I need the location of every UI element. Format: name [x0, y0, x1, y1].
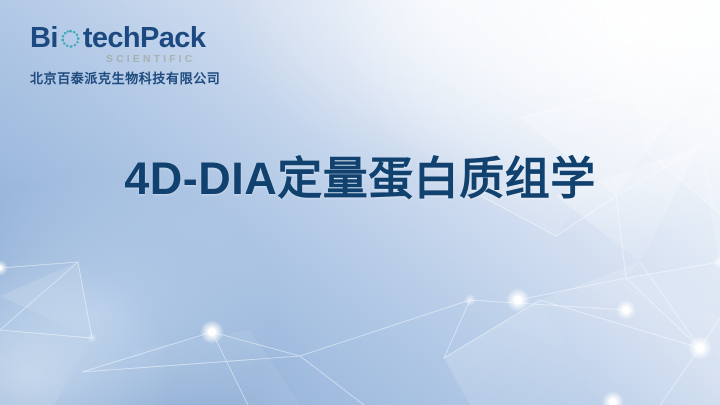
- title-slide: Bi: [0, 0, 720, 405]
- logo-word-part-2: techPack: [83, 24, 206, 53]
- logo-tagline: SCIENTIFIC: [106, 54, 240, 65]
- company-logo: Bi: [30, 24, 240, 86]
- logo-word-part-1: Bi: [30, 24, 58, 53]
- molecule-ring-icon: [59, 28, 82, 51]
- logo-wordmark: Bi: [30, 24, 240, 53]
- company-name-cn: 北京百泰派克生物科技有限公司: [30, 72, 240, 86]
- page-title: 4D-DIA定量蛋白质组学: [0, 154, 720, 204]
